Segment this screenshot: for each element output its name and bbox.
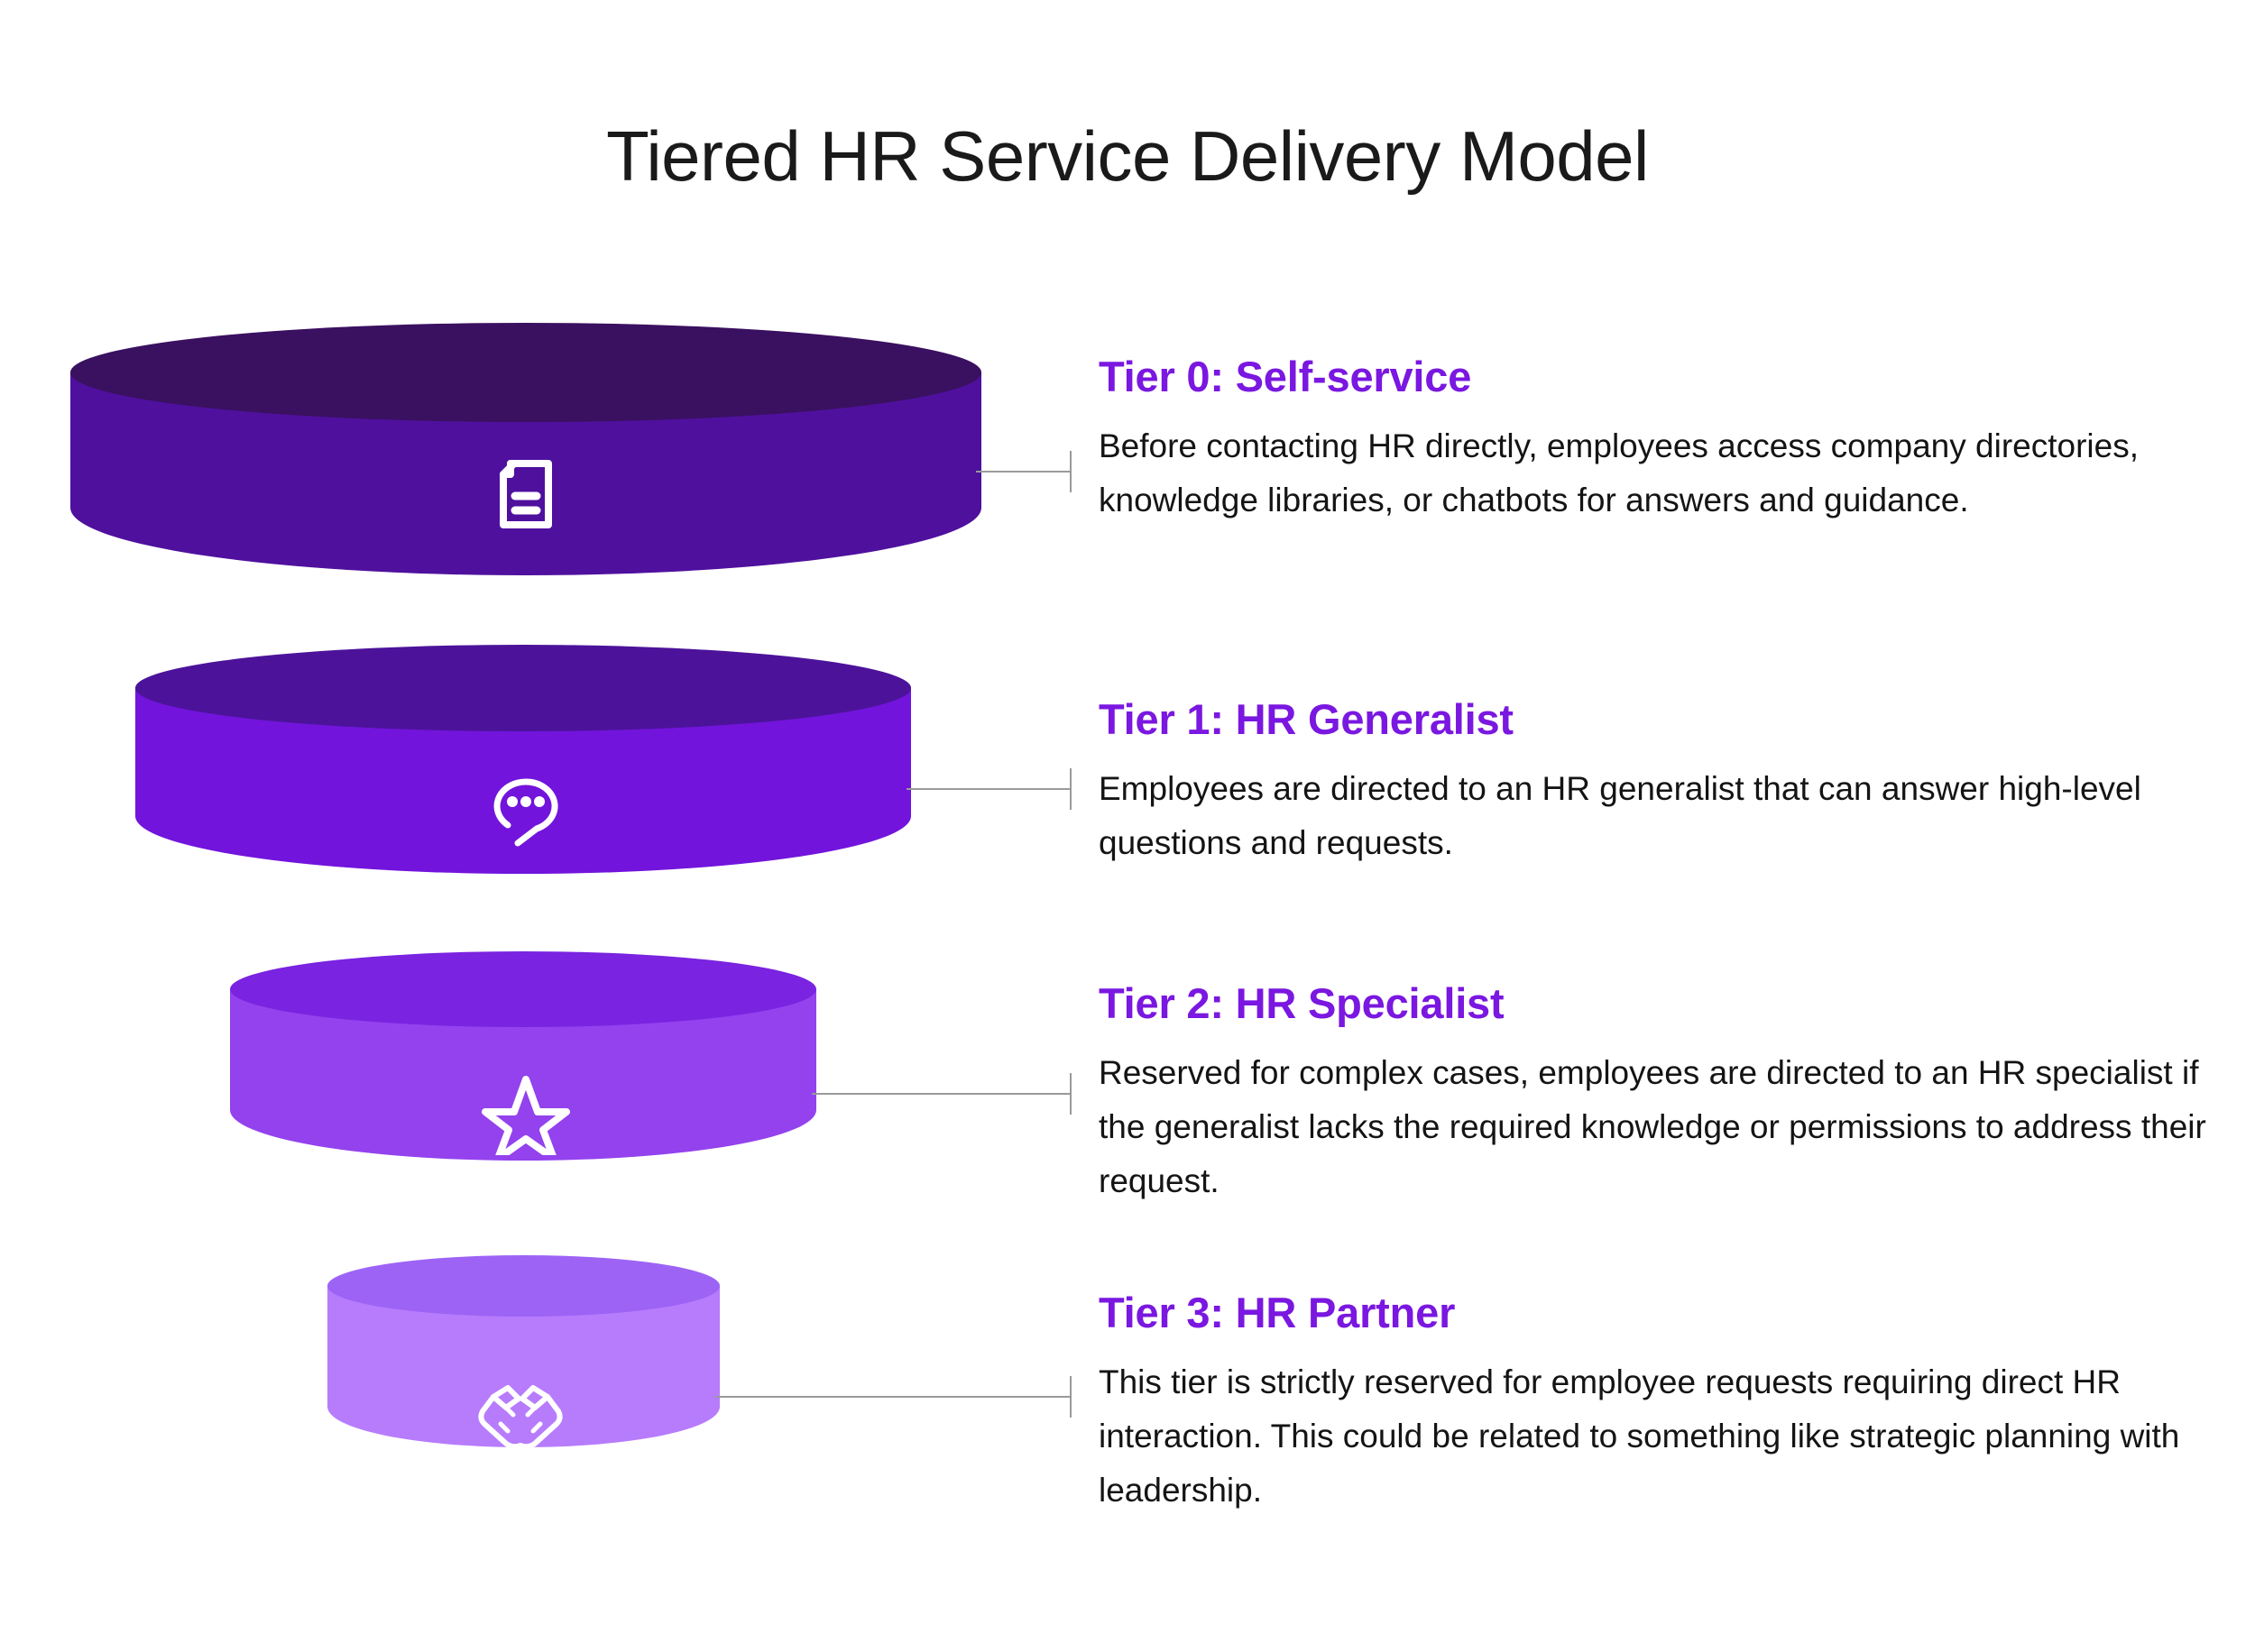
tier-1-heading: Tier 1: HR Generalist xyxy=(1099,694,2217,744)
tier-0-description: Before contacting HR directly, employees… xyxy=(1099,419,2217,528)
tier-1-cylinder-top xyxy=(135,645,911,731)
tier-2-icon-wrap xyxy=(476,1062,575,1161)
tier-0-text-block: Tier 0: Self-service Before contacting H… xyxy=(1099,352,2217,528)
tier-1-description: Employees are directed to an HR generali… xyxy=(1099,762,2217,870)
page-title: Tiered HR Service Delivery Model xyxy=(0,115,2255,197)
tier-0-icon-wrap xyxy=(476,442,575,541)
chat-bubble-icon xyxy=(483,762,569,849)
star-icon xyxy=(482,1069,570,1155)
tier-0-connector-tick xyxy=(1070,451,1072,492)
handshake-icon xyxy=(474,1377,567,1455)
tier-1-icon-wrap xyxy=(476,756,575,855)
tier-1-text-block: Tier 1: HR Generalist Employees are dire… xyxy=(1099,694,2217,870)
tier-3-heading: Tier 3: HR Partner xyxy=(1099,1288,2217,1337)
tier-2-connector-line xyxy=(812,1093,1072,1095)
tier-0-cylinder-top xyxy=(70,323,981,422)
tier-3-connector-tick xyxy=(1070,1376,1072,1418)
document-icon xyxy=(487,449,565,534)
tier-3-cylinder-top xyxy=(327,1255,720,1317)
tier-2-text-block: Tier 2: HR Specialist Reserved for compl… xyxy=(1099,978,2217,1208)
tier-0-heading: Tier 0: Self-service xyxy=(1099,352,2217,401)
tier-1-connector-tick xyxy=(1070,768,1072,810)
tier-0-connector-line xyxy=(976,471,1072,473)
tier-2-heading: Tier 2: HR Specialist xyxy=(1099,978,2217,1028)
tier-3-text-block: Tier 3: HR Partner This tier is strictly… xyxy=(1099,1288,2217,1518)
funnel-diagram xyxy=(0,307,1064,1569)
tier-2-description: Reserved for complex cases, employees ar… xyxy=(1099,1046,2217,1208)
tier-3-icon-wrap xyxy=(471,1366,570,1465)
tier-3-description: This tier is strictly reserved for emplo… xyxy=(1099,1355,2217,1518)
tier-1-connector-line xyxy=(907,788,1072,790)
tier-2-connector-tick xyxy=(1070,1073,1072,1115)
tier-2-cylinder-top xyxy=(230,951,816,1027)
tier-3-connector-line xyxy=(715,1396,1072,1398)
